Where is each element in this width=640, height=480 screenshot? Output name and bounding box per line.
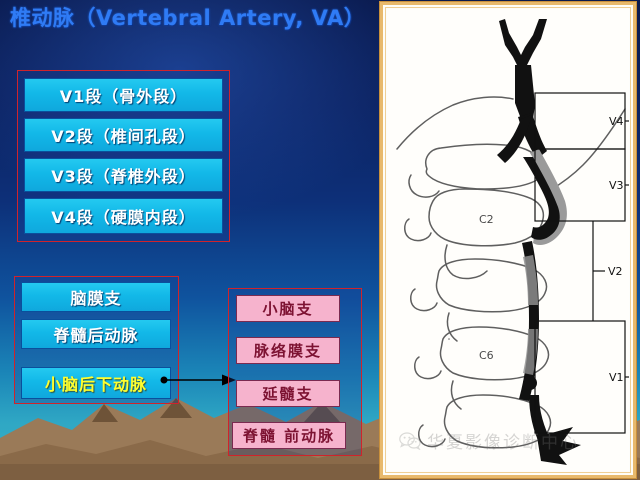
branch-box-choroidal[interactable]: 脉络膜支 xyxy=(236,337,340,364)
segment-box-v1[interactable]: V1段（骨外段） xyxy=(24,78,223,112)
branch-box-meningeal[interactable]: 脑膜支 xyxy=(21,282,171,312)
vertebra-label-c6: C6 xyxy=(479,349,494,362)
branch-box-posterior-spinal-artery[interactable]: 脊髓后动脉 xyxy=(21,319,171,349)
vertebral-artery-path xyxy=(497,19,581,465)
branch-box-cerebellar[interactable]: 小脑支 xyxy=(236,295,340,322)
segment-label-v1: V1 xyxy=(609,371,624,384)
branch-box-pica[interactable]: 小脑后下动脉 xyxy=(21,367,171,399)
vertebra-label-c2: C2 xyxy=(479,213,494,226)
segment-label-v2: V2 xyxy=(608,265,623,278)
segment-label-v4: V4 xyxy=(609,115,624,128)
branch-box-medullary[interactable]: 延髓支 xyxy=(236,380,340,407)
anatomy-diagram-panel: C2 C6 xyxy=(380,2,636,478)
slide-canvas: 椎动脉（Vertebral Artery, VA） V1段（骨外段） V2段（椎… xyxy=(0,0,640,480)
segment-box-v4[interactable]: V4段（硬膜内段） xyxy=(24,198,223,234)
segment-label-v3: V3 xyxy=(609,179,624,192)
branch-box-anterior-spinal-artery[interactable]: 脊髓 前动脉 xyxy=(232,422,346,449)
anatomy-diagram-canvas: C2 C6 xyxy=(387,9,629,471)
vertebral-artery-illustration: C2 C6 xyxy=(387,9,629,471)
segment-box-v2[interactable]: V2段（椎间孔段） xyxy=(24,118,223,152)
page-title: 椎动脉（Vertebral Artery, VA） xyxy=(10,2,365,32)
segment-box-v3[interactable]: V3段（脊椎外段） xyxy=(24,158,223,192)
